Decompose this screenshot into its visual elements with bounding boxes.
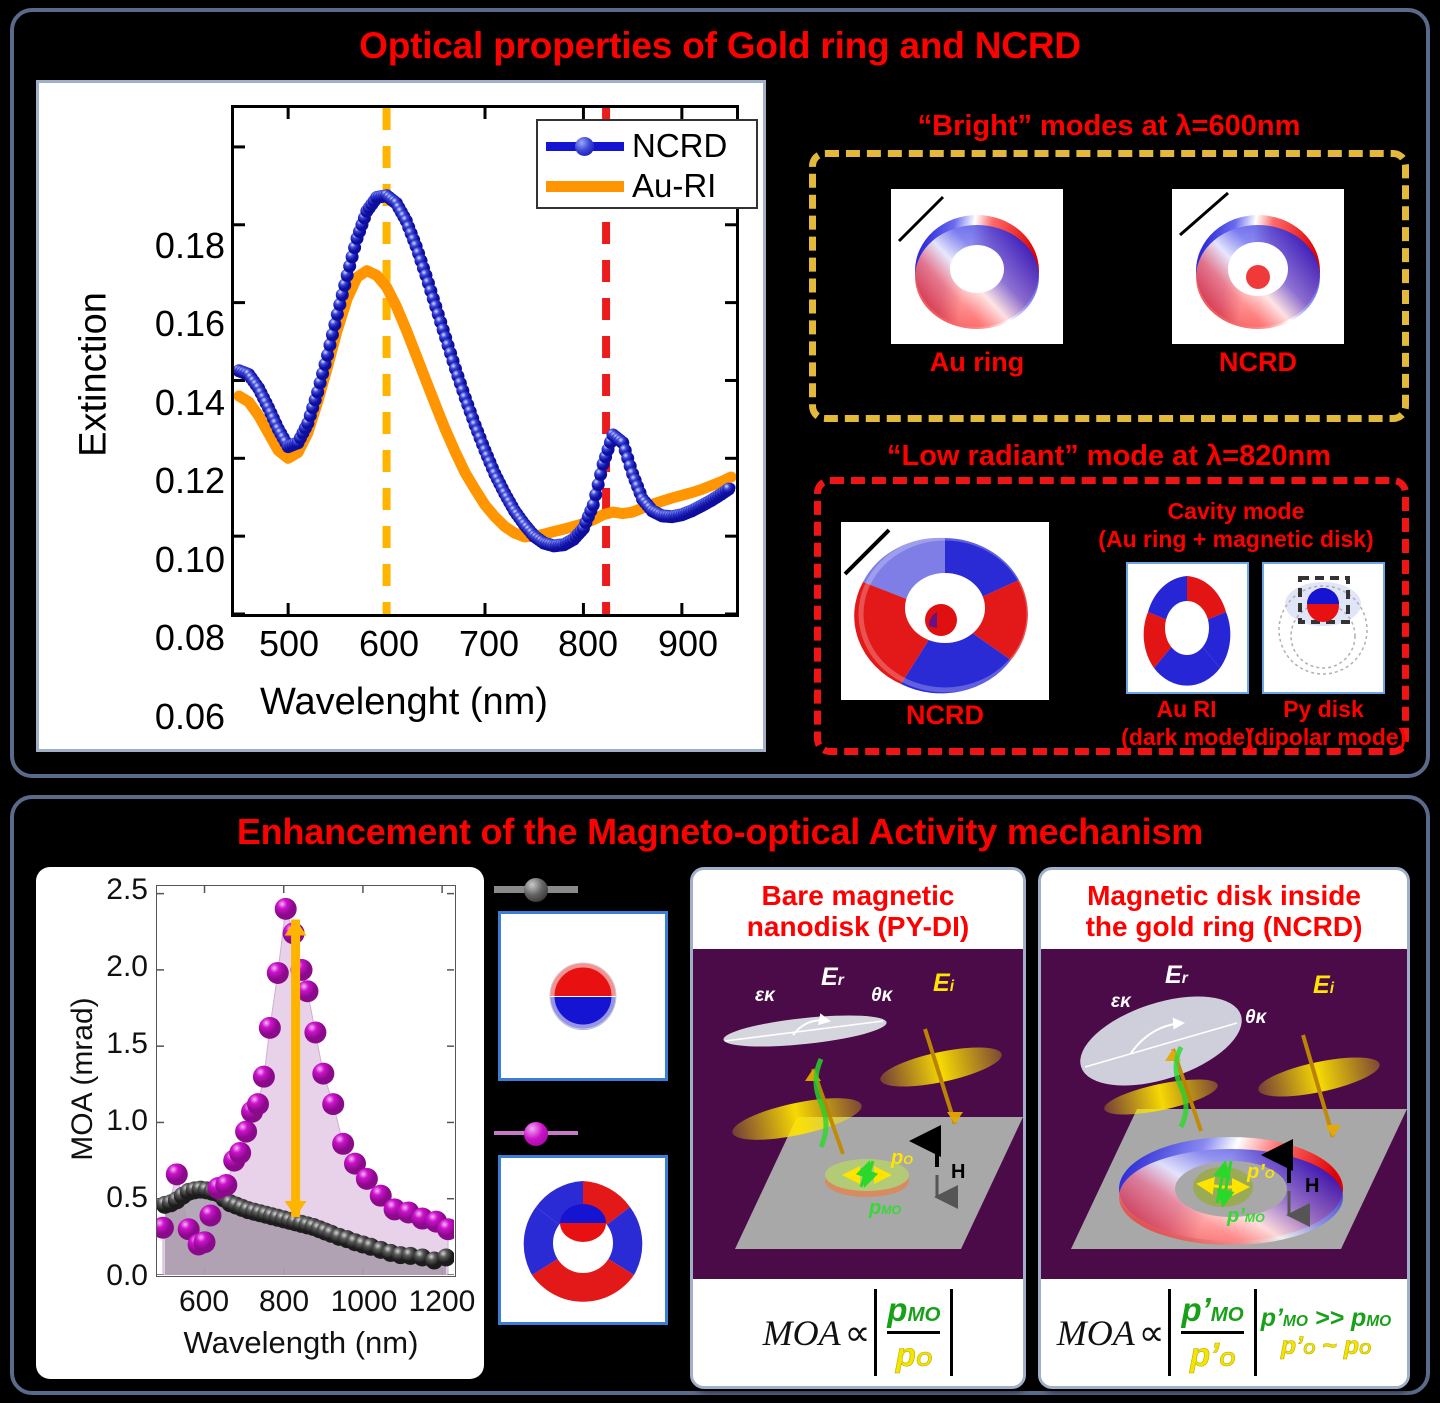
- ncrd-marker-icon: [546, 136, 624, 156]
- eps-k-label: εᴋ: [755, 985, 775, 1007]
- x-tick: 600: [359, 623, 419, 665]
- mech-mid-scene: εᴋ Er θᴋ Ei pO pMO H: [693, 949, 1023, 1279]
- moa-x-axis-label: Wavelength (nm): [116, 1325, 486, 1361]
- py-disk-label: Py disk: [1246, 696, 1401, 723]
- formula-lhs: MOA: [1057, 1312, 1135, 1354]
- x-tick: 900: [658, 623, 718, 665]
- moa-svg: [157, 886, 454, 1275]
- au-ring-field-map: [891, 189, 1063, 344]
- mech-right-diagram: [1041, 949, 1407, 1279]
- fraction-bar: [887, 1331, 940, 1334]
- legend-item-ncrd: NCRD: [490, 1113, 686, 1153]
- x-tick: 800: [558, 623, 618, 665]
- mech-right-scene: εᴋ Er θᴋ Ei p’O p’MO H: [1041, 949, 1407, 1279]
- mech-mid-diagram: [693, 949, 1023, 1279]
- auri-line-icon: [546, 176, 624, 196]
- au-ring-caption: Au ring: [891, 347, 1063, 378]
- p-o-label: pO: [891, 1147, 913, 1170]
- mech-mid-formula: MOA ∝ pMO pO: [693, 1279, 1023, 1387]
- proportional-icon: ∝: [845, 1312, 871, 1354]
- page-title: Optical properties of Gold ring and NCRD: [14, 12, 1426, 67]
- H-field-label: H: [951, 1161, 965, 1184]
- x-tick: 800: [259, 1285, 309, 1319]
- y-tick: 2.5: [44, 873, 148, 907]
- bare-nanodisk-card: Bare magnetic nanodisk (PY-DI): [690, 867, 1026, 1389]
- mech-mid-title: Bare magnetic nanodisk (PY-DI): [693, 870, 1023, 949]
- legend-label: Au-RI: [632, 167, 716, 205]
- E-r-label: Er: [821, 963, 844, 992]
- extinction-chart-card: Extinction 0.18 0.16 0.14 0.12 0.10 0.08…: [36, 80, 766, 752]
- py-disk-dipolar-label: (dipolar mode): [1234, 724, 1419, 751]
- formula-lhs: MOA: [763, 1312, 841, 1354]
- ncrd-mechanism-card: Magnetic disk inside the gold ring (NCRD…: [1038, 867, 1410, 1389]
- legend-label: Py-DI: [584, 872, 661, 906]
- ncrd-marker-icon: [494, 1121, 578, 1145]
- x-tick: 500: [259, 623, 319, 665]
- extinction-x-axis-label: Wavelenght (nm): [39, 681, 769, 724]
- bottom-page-title: Enhancement of the Magneto-optical Activ…: [14, 799, 1426, 853]
- y-tick: 1.5: [44, 1027, 148, 1061]
- x-tick: 1200: [409, 1285, 476, 1319]
- py-disk-dipolar-map: [1262, 562, 1385, 694]
- legend-item-auri: Au-RI: [546, 166, 748, 206]
- ncrd-field-map: [1172, 189, 1344, 344]
- y-tick: 0.10: [99, 539, 225, 581]
- theta-k-label: θᴋ: [1245, 1007, 1266, 1029]
- formula-denominator: p’O: [1190, 1336, 1235, 1374]
- p-mo-prime-label: p’MO: [1227, 1205, 1265, 1228]
- formula-denominator: pO: [896, 1336, 932, 1374]
- comparison-o: p’O ~ pO: [1281, 1333, 1371, 1361]
- mech-right-title-line2: the gold ring (NCRD): [1045, 911, 1403, 942]
- moa-chart-card: MOA (mrad) 2.5 2.0 1.5 1.0 0.5 0.0 600 8…: [36, 867, 484, 1379]
- E-r-label: Er: [1165, 961, 1188, 990]
- moa-plot-area: [156, 885, 456, 1277]
- E-i-label: Ei: [1313, 971, 1334, 1000]
- x-tick: 600: [179, 1285, 229, 1319]
- optical-properties-panel: Optical properties of Gold ring and NCRD…: [10, 8, 1430, 778]
- low-radiant-heading: “Low radiant” mode at λ=820nm: [809, 440, 1409, 473]
- x-tick: 1000: [331, 1285, 398, 1319]
- legend-label: NCRD: [584, 1116, 671, 1150]
- ncrd-bright-caption: NCRD: [1172, 347, 1344, 378]
- theta-k-label: θᴋ: [871, 985, 892, 1007]
- moa-legend: Py-DI NCRD: [490, 869, 686, 1381]
- y-tick: 0.08: [99, 617, 225, 659]
- y-tick: 0.0: [44, 1259, 148, 1293]
- E-i-label: Ei: [933, 969, 954, 998]
- H-field-label: H: [1305, 1175, 1319, 1198]
- y-tick: 0.14: [99, 382, 225, 424]
- cavity-mode-line1: Cavity mode: [1071, 498, 1401, 525]
- ncrd-lowradiant-field-map: [841, 522, 1049, 700]
- low-radiant-box: NCRD Cavity mode (Au ring + magnetic dis…: [814, 477, 1409, 755]
- legend-label: NCRD: [632, 127, 727, 165]
- y-tick: 2.0: [44, 950, 148, 984]
- au-ri-label: Au RI: [1109, 696, 1264, 723]
- p-o-prime-label: p’O: [1247, 1161, 1274, 1184]
- y-tick: 0.18: [99, 225, 225, 267]
- x-tick: 700: [459, 623, 519, 665]
- y-tick: 0.12: [99, 460, 225, 502]
- extinction-legend: NCRD Au-RI: [536, 119, 758, 209]
- bright-modes-box: Au ring NCRD: [809, 150, 1409, 422]
- y-tick: 1.0: [44, 1104, 148, 1138]
- p-mo-label: pMO: [869, 1197, 901, 1220]
- formula-fraction: p’MO p’O: [1168, 1289, 1256, 1376]
- eps-k-label: εᴋ: [1111, 991, 1131, 1013]
- moa-enhancement-panel: Enhancement of the Magneto-optical Activ…: [10, 795, 1430, 1395]
- fraction-bar: [1181, 1331, 1243, 1334]
- py-di-field-thumbnail: [498, 911, 668, 1081]
- ncrd-field-thumbnail: [498, 1155, 668, 1325]
- py-di-marker-icon: [494, 877, 578, 901]
- mech-right-title: Magnetic disk inside the gold ring (NCRD…: [1041, 870, 1407, 949]
- mech-mid-title-line1: Bare magnetic: [697, 880, 1019, 911]
- comparison-mo: p’MO >> pMO: [1261, 1305, 1392, 1333]
- au-ri-dark-mode-map: [1126, 562, 1249, 694]
- moa-y-axis-label: MOA (mrad): [66, 964, 100, 1194]
- legend-item-py-di: Py-DI: [490, 869, 686, 909]
- proportional-icon: ∝: [1139, 1312, 1165, 1354]
- ncrd-lowradiant-caption: NCRD: [841, 700, 1049, 731]
- mech-right-formula: MOA ∝ p’MO p’O p’MO >> pMO p’O ~ pO: [1041, 1279, 1407, 1387]
- formula-comparisons: p’MO >> pMO p’O ~ pO: [1261, 1305, 1392, 1360]
- mech-mid-title-line2: nanodisk (PY-DI): [697, 911, 1019, 942]
- y-tick: 0.5: [44, 1181, 148, 1215]
- formula-fraction: pMO pO: [874, 1289, 953, 1376]
- bright-modes-heading: “Bright” modes at λ=600nm: [809, 110, 1409, 143]
- mech-right-title-line1: Magnetic disk inside: [1045, 880, 1403, 911]
- formula-numerator: pMO: [887, 1291, 940, 1329]
- formula-numerator: p’MO: [1181, 1291, 1243, 1329]
- cavity-mode-line2: (Au ring + magnetic disk): [1071, 526, 1401, 553]
- y-tick: 0.16: [99, 303, 225, 345]
- legend-item-ncrd: NCRD: [546, 126, 748, 166]
